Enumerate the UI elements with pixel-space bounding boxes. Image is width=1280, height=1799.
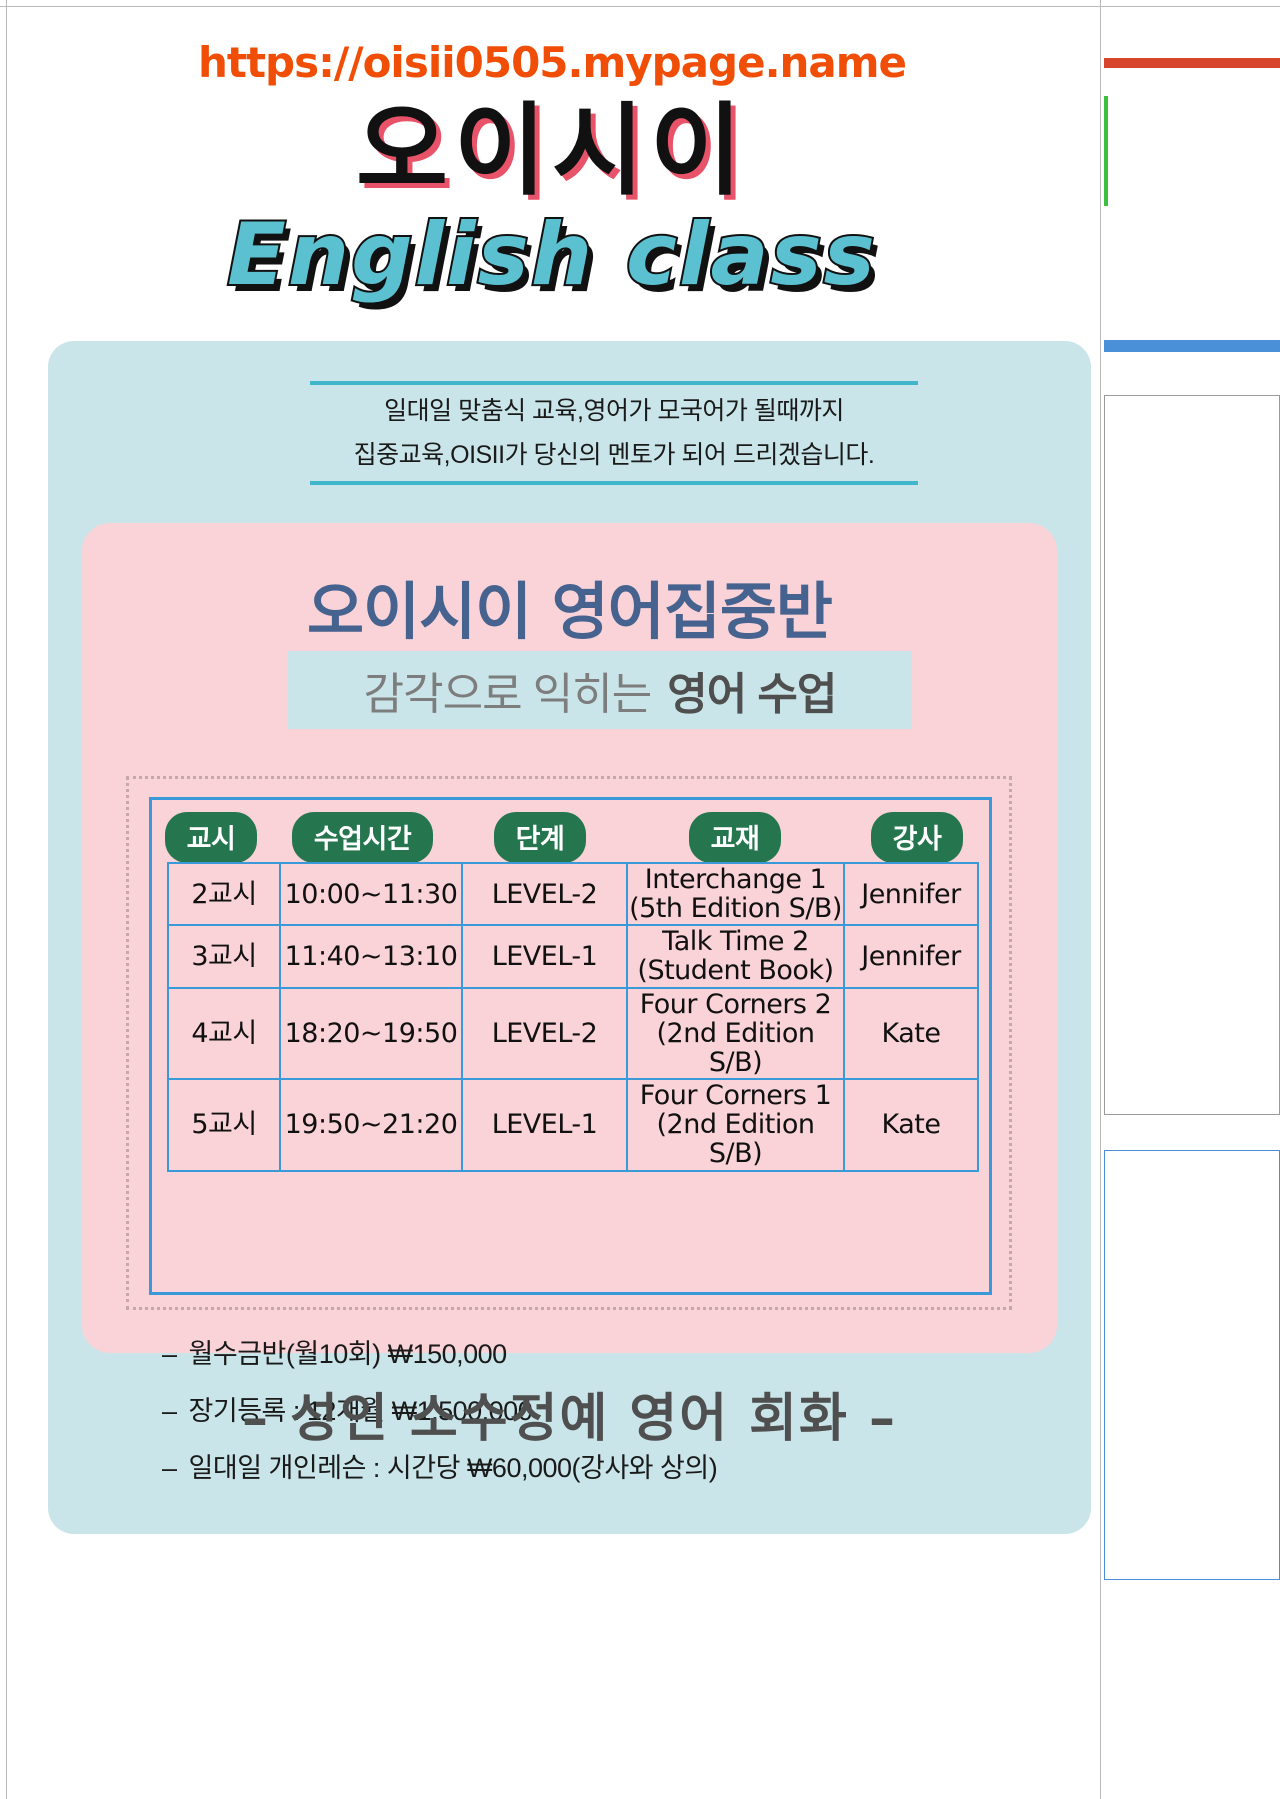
cell-time: 18:20~19:50 (280, 988, 462, 1079)
cell-book-line1: Interchange 1 (629, 865, 842, 894)
header-cell-period: 교시 (152, 812, 270, 863)
intro-rule-bottom (310, 481, 918, 485)
cell-book-line2: (2nd Edition S/B) (629, 1110, 842, 1168)
brand-name-english: English class (0, 208, 1104, 303)
list-item: –월수금반(월10회) ₩150,000 (162, 1332, 1012, 1371)
cell-level: LEVEL-1 (462, 1079, 627, 1170)
table-row: 2교시 10:00~11:30 LEVEL-2 Interchange 1 (5… (168, 863, 978, 925)
list-item: –일대일 개인레슨 : 시간당 ₩60,000(강사와 상의) (162, 1446, 1012, 1485)
cell-period: 4교시 (168, 988, 280, 1079)
cell-level: LEVEL-2 (462, 863, 627, 925)
cell-book: Four Corners 2 (2nd Edition S/B) (627, 988, 844, 1079)
price-text-3: 일대일 개인레슨 : 시간당 ₩60,000(강사와 상의) (189, 1453, 718, 1483)
cell-book-line2: (5th Edition S/B) (629, 894, 842, 923)
cell-teacher: Jennifer (844, 925, 978, 987)
cell-book-line1: Talk Time 2 (629, 927, 842, 956)
cell-period: 3교시 (168, 925, 280, 987)
cell-level: LEVEL-1 (462, 925, 627, 987)
schedule-blue-frame: 교시 수업시간 단계 교재 강사 (149, 797, 992, 1295)
cell-period: 5교시 (168, 1079, 280, 1170)
program-panel: 오이시이 영어집중반 감각으로 익히는 영어 수업 교시 수업시간 (82, 523, 1057, 1353)
cell-period: 2교시 (168, 863, 280, 925)
price-text-1: 월수금반(월10회) ₩150,000 (189, 1339, 507, 1369)
side-strip-blue-box (1104, 1150, 1280, 1580)
intro-rule-top (310, 381, 918, 385)
side-strip-gray-box (1104, 395, 1280, 1115)
cell-book: Talk Time 2 (Student Book) (627, 925, 844, 987)
side-strip-red-bar (1104, 58, 1280, 68)
schedule-dotted-frame: 교시 수업시간 단계 교재 강사 (126, 776, 1012, 1310)
cell-book-line1: Four Corners 2 (629, 990, 842, 1019)
header-cell-book: 교재 (625, 812, 845, 863)
side-strip-green-rule (1104, 96, 1280, 206)
schedule-table: 2교시 10:00~11:30 LEVEL-2 Interchange 1 (5… (167, 862, 979, 1172)
header-pill-teacher: 강사 (871, 812, 964, 863)
tagline-light: 감각으로 익히는 (364, 658, 652, 722)
footer-tagline: – 성인 소수정예 영어 회화 – (48, 1376, 1091, 1451)
cell-teacher: Kate (844, 988, 978, 1079)
program-title: 오이시이 영어집중반 (82, 561, 1057, 651)
cell-time: 19:50~21:20 (280, 1079, 462, 1170)
page-edge-top (0, 6, 1280, 7)
cell-time: 10:00~11:30 (280, 863, 462, 925)
list-bullet-dash: – (162, 1339, 177, 1369)
cell-teacher: Kate (844, 1079, 978, 1170)
cell-book-line2: (2nd Edition S/B) (629, 1019, 842, 1077)
cell-time: 11:40~13:10 (280, 925, 462, 987)
header-cell-level: 단계 (455, 812, 625, 863)
brand-name-korean: 오이시이 (0, 98, 1104, 203)
side-strip-blue-bar (1104, 340, 1280, 352)
header-pill-period: 교시 (165, 812, 258, 863)
cell-book-line1: Four Corners 1 (629, 1081, 842, 1110)
cell-teacher: Jennifer (844, 863, 978, 925)
header-pill-book: 교재 (689, 812, 782, 863)
program-tagline-band: 감각으로 익히는 영어 수업 (288, 651, 912, 729)
cell-book-line2: (Student Book) (629, 956, 842, 985)
intro-line-2: 집중교육,OISII가 당신의 멘토가 되어 드리겠습니다. (310, 439, 918, 473)
header-pill-level: 단계 (494, 812, 587, 863)
website-url[interactable]: https://oisii0505.mypage.name (0, 38, 1104, 87)
poster-root: https://oisii0505.mypage.name 오이시이 Engli… (0, 0, 1280, 1799)
header-pill-time: 수업시간 (292, 812, 433, 863)
cell-book: Interchange 1 (5th Edition S/B) (627, 863, 844, 925)
main-card: 일대일 맞춤식 교육,영어가 모국어가 될때까지 집중교육,OISII가 당신의… (48, 341, 1091, 1534)
cell-book: Four Corners 1 (2nd Edition S/B) (627, 1079, 844, 1170)
table-row: 5교시 19:50~21:20 LEVEL-1 Four Corners 1 (… (168, 1079, 978, 1170)
header-cell-time: 수업시간 (270, 812, 455, 863)
cell-level: LEVEL-2 (462, 988, 627, 1079)
schedule-header-row: 교시 수업시간 단계 교재 강사 (152, 812, 989, 863)
intro-block: 일대일 맞춤식 교육,영어가 모국어가 될때까지 집중교육,OISII가 당신의… (310, 381, 918, 485)
list-bullet-dash: – (162, 1453, 177, 1483)
table-row: 4교시 18:20~19:50 LEVEL-2 Four Corners 2 (… (168, 988, 978, 1079)
header-cell-teacher: 강사 (845, 812, 989, 863)
intro-line-1: 일대일 맞춤식 교육,영어가 모국어가 될때까지 (310, 395, 918, 429)
tagline-strong: 영어 수업 (667, 658, 836, 722)
table-row: 3교시 11:40~13:10 LEVEL-1 Talk Time 2 (Stu… (168, 925, 978, 987)
